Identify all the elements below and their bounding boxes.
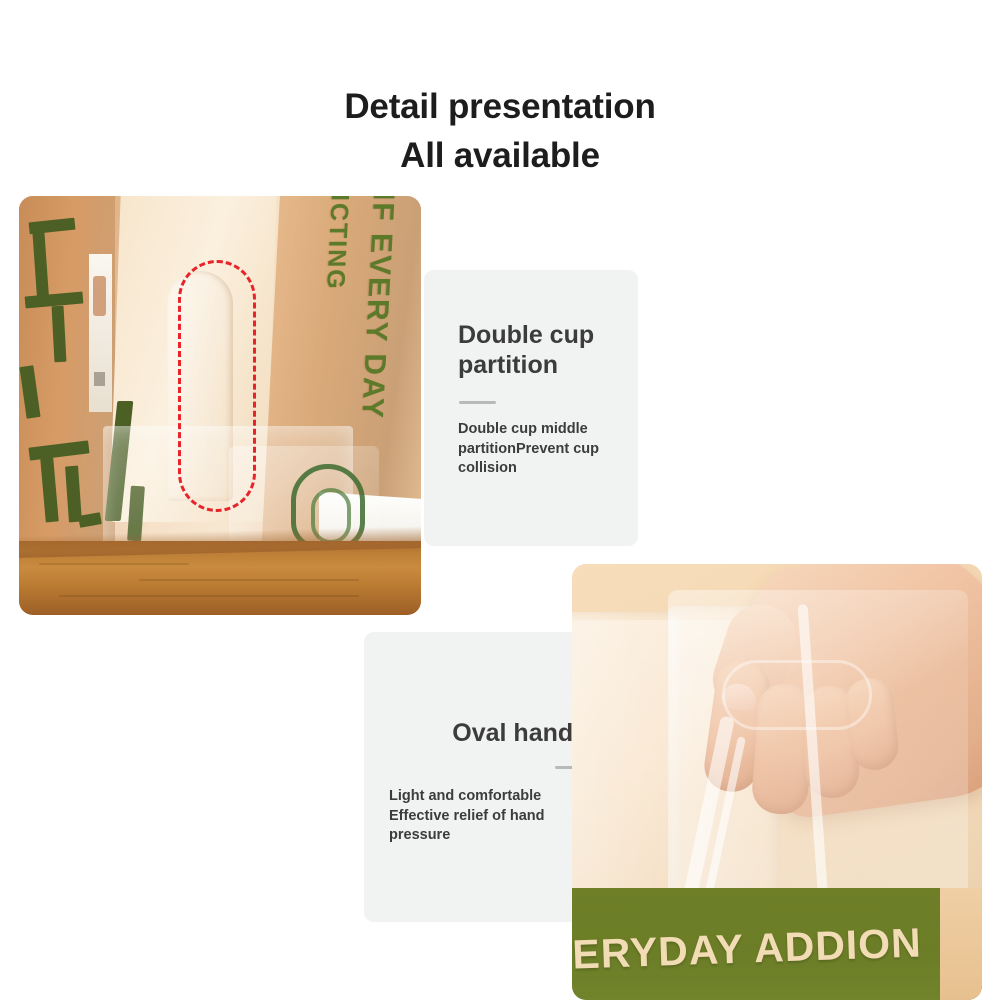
bag-printed-text-secondary: ICTING bbox=[320, 196, 354, 291]
bag-printed-text-primary: IF EVERY DAY bbox=[354, 196, 400, 420]
card-divider bbox=[459, 401, 496, 404]
wood-grain bbox=[139, 579, 359, 581]
page-title: Detail presentation All available bbox=[0, 84, 1000, 178]
wood-grain bbox=[39, 563, 189, 565]
green-print-mark bbox=[52, 306, 67, 363]
band-printed-text: VERYDAY ADDION bbox=[572, 919, 922, 979]
product-sticker-label bbox=[89, 254, 112, 412]
green-print-mark bbox=[19, 365, 40, 418]
card-body-oval-handle: Light and comfortable Effective relief o… bbox=[389, 787, 569, 846]
sticker-barcode bbox=[94, 372, 105, 386]
oval-handle-cutout bbox=[722, 660, 872, 730]
card-body-double-cup-partition: Double cup middle partitionPrevent cup c… bbox=[458, 420, 623, 479]
card-double-cup-partition: Double cup partition Double cup middle p… bbox=[424, 270, 638, 546]
wooden-table bbox=[19, 541, 421, 615]
band-right-edge bbox=[940, 888, 982, 1000]
card-title-double-cup-partition: Double cup partition bbox=[458, 320, 618, 380]
sticker-graphic bbox=[93, 276, 106, 316]
green-print-band: VERYDAY ADDION bbox=[572, 888, 982, 1000]
photo-oval-handle: VERYDAY ADDION bbox=[572, 564, 982, 1000]
page-title-line-2: All available bbox=[0, 133, 1000, 178]
green-print-mark bbox=[78, 512, 102, 528]
card-title-line-2: partition bbox=[458, 351, 558, 379]
page-title-line-1: Detail presentation bbox=[0, 84, 1000, 129]
detail-presentation-page: Detail presentation All available IF EVE… bbox=[0, 0, 1000, 1000]
card-title-line-1: Double cup bbox=[458, 321, 594, 349]
green-print-mark bbox=[28, 440, 89, 460]
green-print-mark bbox=[40, 458, 59, 523]
red-dashed-oval-annotation bbox=[178, 260, 256, 512]
photo-double-cup-partition: IF EVERY DAY ICTING bbox=[19, 196, 421, 615]
green-print-mark bbox=[65, 466, 82, 523]
wood-grain bbox=[59, 595, 359, 597]
